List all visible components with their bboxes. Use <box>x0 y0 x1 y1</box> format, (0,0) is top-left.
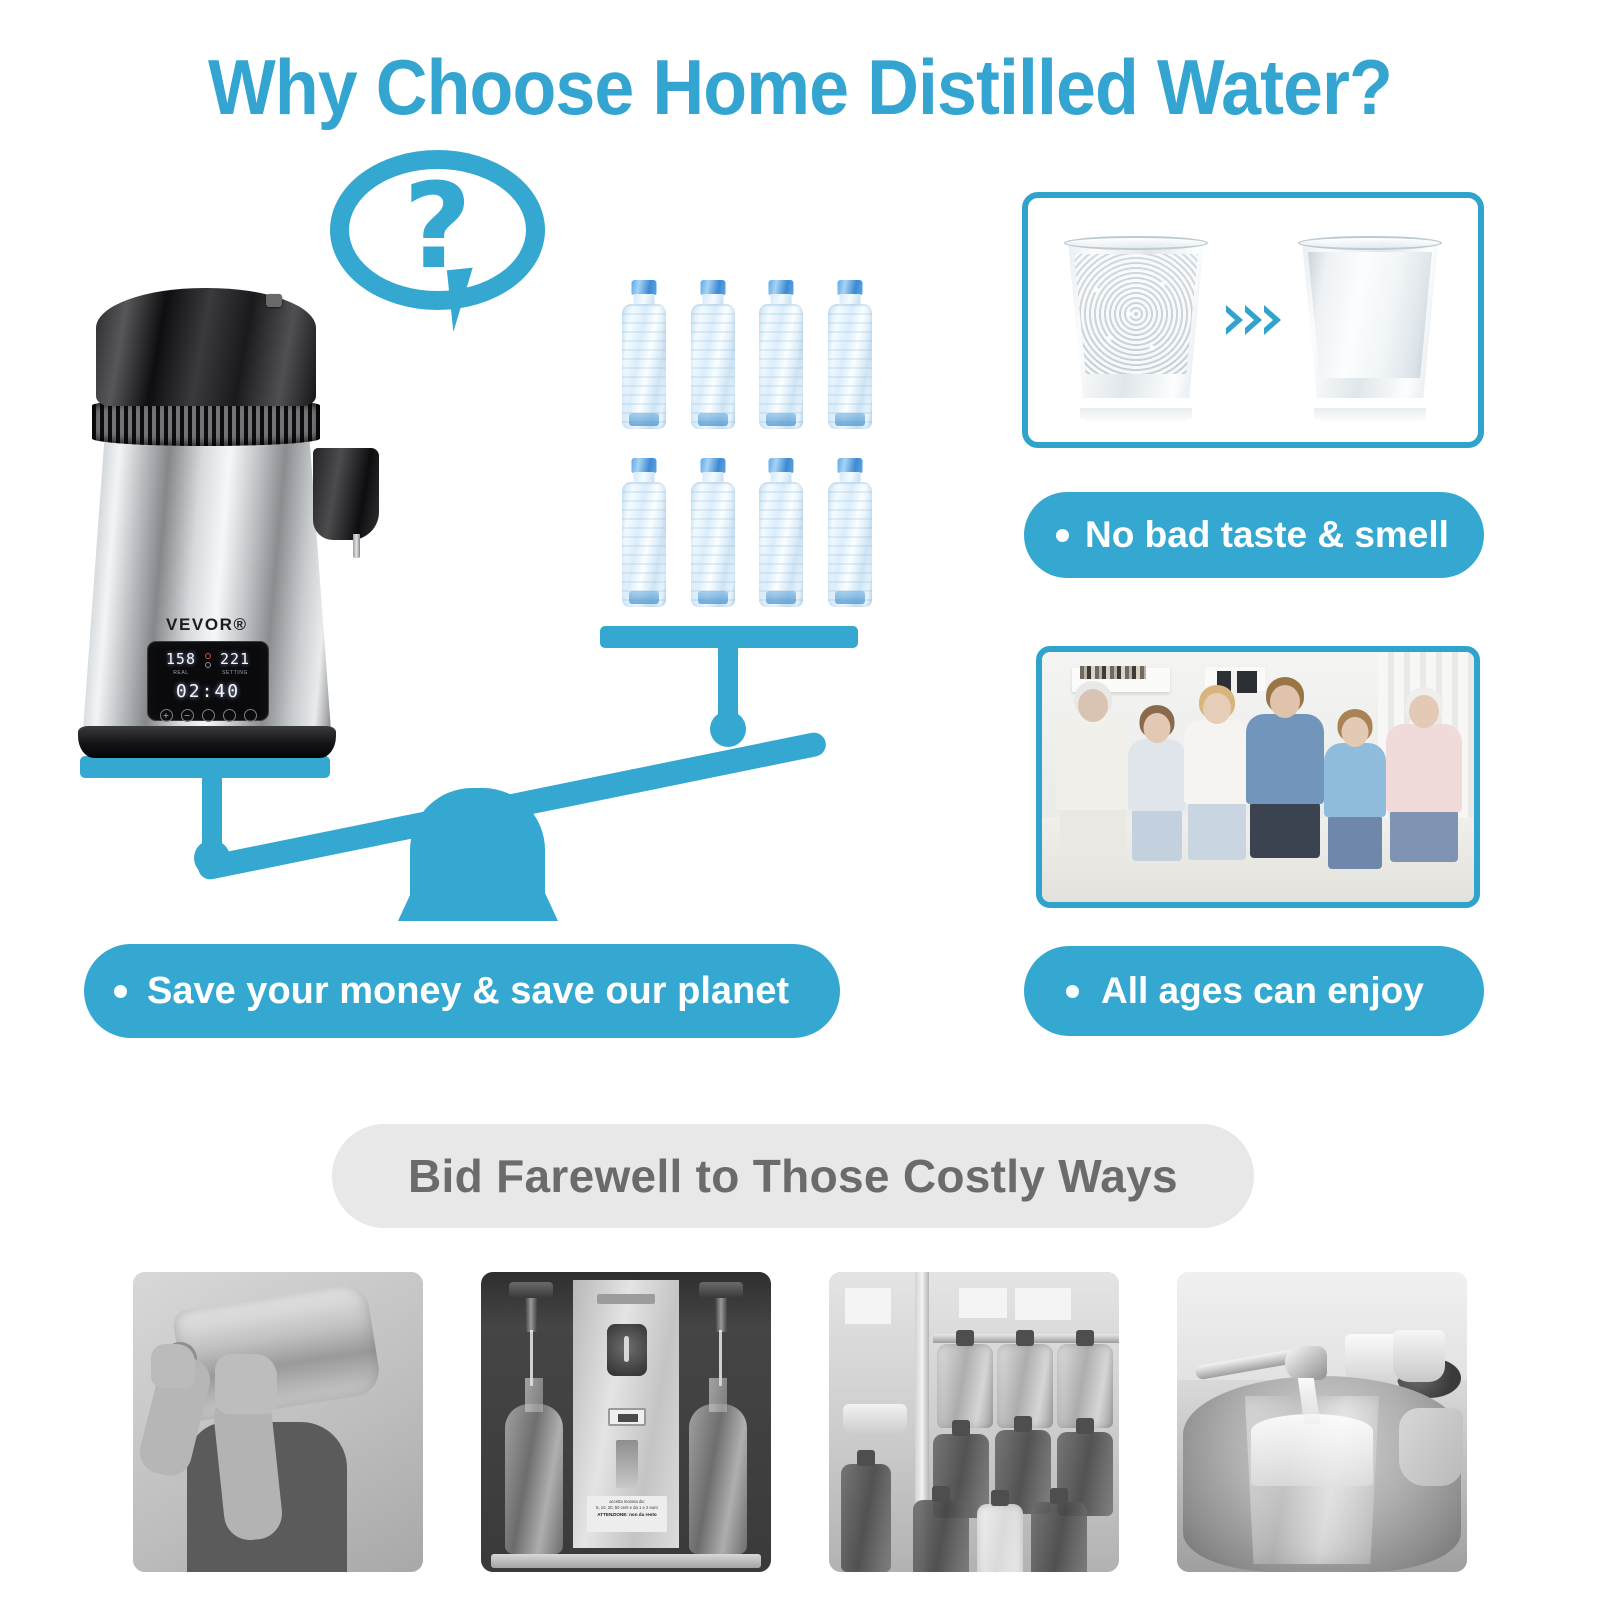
bullet-dot-icon <box>1066 985 1079 998</box>
minus-button-icon[interactable]: − <box>181 709 194 722</box>
bottle-body <box>622 482 666 607</box>
bottle-body <box>828 304 872 429</box>
water-comparison-panel <box>1022 192 1484 448</box>
vending-nozzle-left <box>525 1298 537 1332</box>
hand-holding-pitcher <box>1399 1408 1463 1486</box>
balance-pan-left <box>80 756 330 778</box>
chevron-right-icon <box>1245 305 1262 335</box>
real-temperature-group: 158 REAL <box>166 652 196 676</box>
benefit-pill-save-money: Save your money & save our planet <box>84 944 840 1038</box>
water-jug <box>977 1504 1023 1572</box>
photo-water-vending-machine: accetta moneta da: 5, 10, 20, 50 cent e … <box>481 1272 771 1572</box>
bottle-water <box>629 591 659 604</box>
person-legs <box>1060 808 1126 852</box>
family-scene <box>1042 652 1474 902</box>
photo-man-carrying-water-jug <box>133 1272 423 1572</box>
water-bottle <box>681 456 746 628</box>
wall-sink <box>843 1404 907 1436</box>
glass-bottle-left <box>505 1404 563 1554</box>
vending-display-window <box>597 1294 655 1304</box>
photo-stacked-water-jugs <box>829 1272 1119 1572</box>
question-mark-speech-bubble: ? <box>330 150 545 310</box>
benefit-label: No bad taste & smell <box>1085 514 1449 556</box>
bottle-cap <box>837 280 862 295</box>
balance-knob-right <box>710 711 746 747</box>
bottle-cap <box>700 280 725 295</box>
person-legs <box>1250 802 1320 858</box>
temperature-readout-row: 158 REAL 221 SETTING <box>148 652 268 676</box>
man-hand-right <box>215 1354 277 1414</box>
coin-slot <box>624 1336 629 1362</box>
water-bottle <box>612 456 677 628</box>
section-banner: Bid Farewell to Those Costly Ways <box>332 1124 1254 1228</box>
cloudy-water-fill <box>1070 254 1202 374</box>
person-torso <box>1246 714 1324 804</box>
water-bottle <box>818 278 883 450</box>
glass-reflection <box>1314 408 1426 424</box>
balance-knob-left <box>194 840 230 876</box>
benefit-pill-all-ages: All ages can enjoy <box>1024 946 1484 1036</box>
person-torso <box>1184 720 1250 804</box>
setting-temperature-group: 221 SETTING <box>220 652 250 676</box>
distiller-lid-latch <box>266 294 282 307</box>
water-distiller: VEVOR® 158 REAL 221 SETTING 02:40 + <box>78 288 378 756</box>
distiller-base <box>78 726 336 758</box>
glass-rim <box>1064 236 1208 250</box>
family-photo-panel <box>1036 646 1480 908</box>
water-jug <box>937 1344 993 1428</box>
water-jug <box>913 1500 969 1572</box>
person-torso <box>1386 724 1462 812</box>
person-legs <box>1328 815 1382 869</box>
person-legs <box>1132 809 1182 861</box>
person-head <box>1078 689 1108 722</box>
cloudy-water-glass <box>1062 232 1210 408</box>
plus-button-icon[interactable]: + <box>160 709 173 722</box>
bottle-water <box>698 591 728 604</box>
person-head <box>1342 717 1369 747</box>
glass-rim <box>1298 236 1442 250</box>
vending-tap-right <box>699 1282 743 1298</box>
man-hand-left <box>151 1344 195 1388</box>
touch-button-row: + − <box>148 709 268 722</box>
clear-water-glass <box>1296 232 1444 408</box>
bottle-body <box>622 304 666 429</box>
bottle-water <box>766 413 796 426</box>
heating-indicator-icon <box>205 653 211 659</box>
vending-instruction-label: accetta moneta da: 5, 10, 20, 50 cent e … <box>587 1496 667 1532</box>
person-torso <box>1324 743 1386 817</box>
balance-fulcrum-foot <box>398 883 558 921</box>
vending-label-line3: ATTENZIONE: non da resto <box>589 1512 665 1517</box>
vending-nozzle-right <box>715 1298 727 1332</box>
setting-temperature-label: SETTING <box>222 670 248 676</box>
glass-bottle-right <box>689 1404 747 1554</box>
bottle-cap <box>769 458 794 473</box>
bottle-water <box>766 591 796 604</box>
water-bottle <box>612 278 677 450</box>
wall-notice <box>1015 1288 1071 1320</box>
distiller-control-panel[interactable]: 158 REAL 221 SETTING 02:40 + − <box>148 642 268 720</box>
power-button-icon[interactable] <box>244 709 257 722</box>
bullet-dot-icon <box>114 985 127 998</box>
family-member-grandmother <box>1386 648 1462 898</box>
benefit-pill-no-bad-taste: No bad taste & smell <box>1024 492 1484 578</box>
person-legs <box>1188 802 1246 860</box>
status-indicator-group <box>205 652 211 668</box>
glass-comparison-row <box>1028 198 1478 442</box>
water-bottle <box>749 456 814 628</box>
mode-button-icon[interactable] <box>202 709 215 722</box>
clear-water-fill <box>1304 252 1436 378</box>
timer-display: 02:40 <box>148 681 268 702</box>
bottle-body <box>691 482 735 607</box>
drip-tray <box>491 1554 761 1568</box>
menu-button-icon[interactable] <box>223 709 236 722</box>
person-head <box>1270 685 1300 718</box>
bullet-dot-icon <box>1056 529 1069 542</box>
infographic-page: Why Choose Home Distilled Water? ? VEVOR… <box>0 0 1600 1600</box>
distiller-lid <box>96 288 316 406</box>
credit-display <box>608 1408 646 1426</box>
distiller-spout-housing <box>313 448 379 540</box>
benefit-label: All ages can enjoy <box>1101 970 1424 1012</box>
chevron-right-icon <box>1264 305 1281 335</box>
triple-chevron-right-icon <box>1226 305 1281 335</box>
filter-cartridge <box>1393 1330 1445 1382</box>
standby-indicator-icon <box>205 662 211 668</box>
bottle-cap <box>700 458 725 473</box>
page-title: Why Choose Home Distilled Water? <box>64 42 1536 133</box>
person-head <box>1203 693 1231 724</box>
person-legs <box>1390 810 1458 862</box>
bottle-water <box>629 413 659 426</box>
water-jug <box>1031 1502 1087 1572</box>
family-member-mother <box>1184 648 1250 898</box>
bottle-cap <box>632 280 657 295</box>
bottle-body <box>759 482 803 607</box>
bottle-body <box>759 304 803 429</box>
bottle-water <box>835 413 865 426</box>
bottle-cap <box>769 280 794 295</box>
real-temperature-label: REAL <box>173 670 188 676</box>
water-bottle <box>681 278 746 450</box>
bottle-water <box>835 591 865 604</box>
pitcher-water <box>1251 1414 1373 1486</box>
balance-pan-right <box>600 626 858 648</box>
bottle-water <box>698 413 728 426</box>
glass-reflection <box>1080 408 1192 424</box>
wall-notice <box>845 1288 891 1324</box>
family-member-boy <box>1324 648 1386 898</box>
bottle-cap <box>837 458 862 473</box>
water-bottle <box>818 456 883 628</box>
chevron-right-icon <box>1226 305 1243 335</box>
person-head <box>1144 713 1171 743</box>
family-member-girl <box>1128 648 1186 898</box>
person-torso <box>1128 739 1186 811</box>
real-temperature-value: 158 <box>166 652 196 667</box>
bottle-body <box>691 304 735 429</box>
water-jug <box>841 1464 891 1572</box>
vending-label-line2: 5, 10, 20, 50 cent e da 1 e 2 euro <box>589 1505 665 1511</box>
family-member-grandfather <box>1056 648 1130 898</box>
plastic-bottle-grid <box>612 278 882 628</box>
bottle-cap <box>632 458 657 473</box>
person-torso <box>1056 718 1130 810</box>
costly-ways-photo-strip: accetta moneta da: 5, 10, 20, 50 cent e … <box>0 1272 1600 1582</box>
water-bottle <box>749 278 814 450</box>
person-head <box>1409 695 1439 728</box>
distiller-spout <box>313 448 381 568</box>
setting-temperature-value: 221 <box>220 652 250 667</box>
photo-filter-pitcher-at-sink <box>1177 1272 1467 1572</box>
brand-logo: VEVOR® <box>166 615 248 635</box>
benefit-label: Save your money & save our planet <box>147 970 789 1013</box>
distiller-spout-tip <box>353 534 360 558</box>
family-member-father <box>1246 648 1324 898</box>
water-jug <box>1057 1344 1113 1428</box>
coin-return <box>616 1440 638 1488</box>
question-mark-icon: ? <box>330 150 545 310</box>
faucet-spout <box>1285 1346 1327 1380</box>
vending-tap-left <box>509 1282 553 1298</box>
bottle-body <box>828 482 872 607</box>
wall-notice <box>959 1288 1007 1318</box>
